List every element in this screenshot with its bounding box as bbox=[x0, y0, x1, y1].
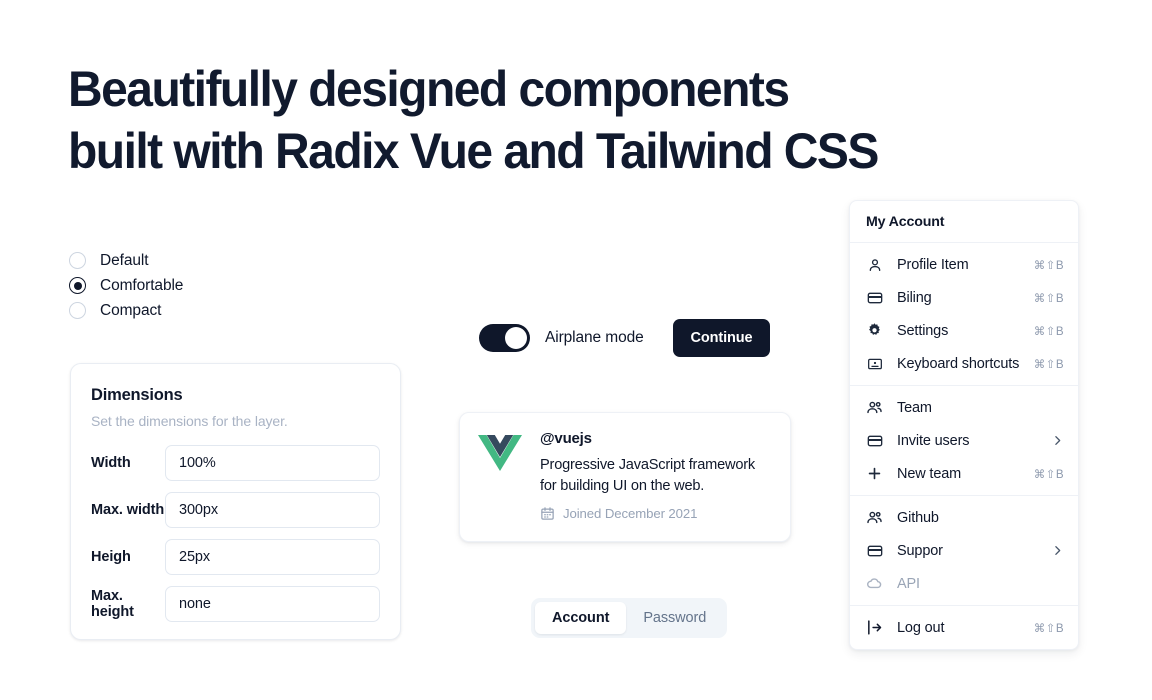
menu-item-label: Profile Item bbox=[897, 257, 1034, 273]
page-root: Beautifully designed components built wi… bbox=[0, 0, 1152, 700]
page-title: Beautifully designed components built wi… bbox=[68, 58, 970, 182]
credit-card-icon bbox=[866, 542, 883, 559]
users-icon bbox=[866, 509, 883, 526]
dimensions-fields: Width Max. width Heigh Max. height bbox=[91, 445, 380, 622]
radio-circle-icon[interactable] bbox=[69, 252, 86, 269]
tab-password[interactable]: Password bbox=[626, 602, 723, 634]
tabs-list: Account Password bbox=[531, 598, 727, 638]
hover-card-meta: Joined December 2021 bbox=[540, 506, 772, 521]
switch-knob bbox=[505, 327, 527, 349]
radio-label: Compact bbox=[100, 302, 161, 320]
dimensions-card: Dimensions Set the dimensions for the la… bbox=[70, 363, 401, 640]
menu-item-label: Log out bbox=[897, 620, 1034, 636]
cloud-icon bbox=[866, 575, 883, 592]
menu-item-label: Team bbox=[897, 400, 1064, 416]
menu-item-billing[interactable]: Biling ⌘⇧B bbox=[850, 281, 1078, 314]
width-input[interactable] bbox=[165, 445, 380, 481]
menu-item-label: Suppor bbox=[897, 543, 1051, 559]
dimensions-description: Set the dimensions for the layer. bbox=[91, 413, 380, 429]
airplane-mode-switch[interactable] bbox=[479, 324, 530, 352]
radio-option-comfortable[interactable]: Comfortable bbox=[69, 273, 183, 298]
hover-card-joined: Joined December 2021 bbox=[563, 506, 697, 521]
chevron-right-icon bbox=[1051, 434, 1064, 447]
max-height-input[interactable] bbox=[165, 586, 380, 622]
menu-item-support[interactable]: Suppor bbox=[850, 534, 1078, 567]
menu-item-log-out[interactable]: Log out ⌘⇧B bbox=[850, 611, 1078, 644]
plus-icon bbox=[866, 465, 883, 482]
radio-dot-icon bbox=[74, 282, 82, 290]
menu-item-shortcut: ⌘⇧B bbox=[1034, 324, 1064, 338]
radio-label: Default bbox=[100, 252, 148, 270]
menu-item-shortcut: ⌘⇧B bbox=[1034, 621, 1064, 635]
hover-card: @vuejs Progressive JavaScript framework … bbox=[459, 412, 791, 542]
field-row-max-height: Max. height bbox=[91, 586, 380, 622]
menu-item-shortcut: ⌘⇧B bbox=[1034, 258, 1064, 272]
calendar-icon bbox=[540, 506, 555, 521]
page-title-line-1: Beautifully designed components bbox=[68, 58, 970, 120]
dimensions-title: Dimensions bbox=[91, 386, 380, 405]
field-label-height: Heigh bbox=[91, 549, 165, 565]
menu-item-shortcut: ⌘⇧B bbox=[1034, 291, 1064, 305]
menu-item-label: Invite users bbox=[897, 433, 1051, 449]
menu-item-keyboard-shortcuts[interactable]: Keyboard shortcuts ⌘⇧B bbox=[850, 347, 1078, 380]
radio-label: Comfortable bbox=[100, 277, 183, 295]
users-icon bbox=[866, 399, 883, 416]
page-title-line-2: built with Radix Vue and Tailwind CSS bbox=[68, 120, 970, 182]
user-icon bbox=[866, 256, 883, 273]
field-row-height: Heigh bbox=[91, 539, 380, 575]
menu-item-invite-users[interactable]: Invite users bbox=[850, 424, 1078, 457]
credit-card-icon bbox=[866, 289, 883, 306]
field-label-max-height: Max. height bbox=[91, 588, 165, 620]
radio-option-compact[interactable]: Compact bbox=[69, 298, 183, 323]
menu-item-label: Keyboard shortcuts bbox=[897, 356, 1034, 372]
menu-item-team[interactable]: Team bbox=[850, 391, 1078, 424]
airplane-mode-label: Airplane mode bbox=[545, 329, 644, 347]
menu-item-github[interactable]: Github bbox=[850, 501, 1078, 534]
radio-circle-checked-icon[interactable] bbox=[69, 277, 86, 294]
menu-item-profile[interactable]: Profile Item ⌘⇧B bbox=[850, 248, 1078, 281]
credit-card-icon bbox=[866, 432, 883, 449]
logout-icon bbox=[866, 619, 883, 636]
continue-button[interactable]: Continue bbox=[673, 319, 770, 357]
vue-logo-icon bbox=[478, 433, 522, 473]
radio-circle-icon[interactable] bbox=[69, 302, 86, 319]
field-row-width: Width bbox=[91, 445, 380, 481]
field-label-width: Width bbox=[91, 455, 165, 471]
menu-group-resources: Github Suppor API bbox=[850, 496, 1078, 605]
menu-item-api: API bbox=[850, 567, 1078, 600]
account-dropdown-menu: My Account Profile Item ⌘⇧B Biling ⌘⇧B bbox=[849, 200, 1079, 650]
menu-item-settings[interactable]: Settings ⌘⇧B bbox=[850, 314, 1078, 347]
field-label-max-width: Max. width bbox=[91, 502, 165, 518]
menu-item-label: Settings bbox=[897, 323, 1034, 339]
height-input[interactable] bbox=[165, 539, 380, 575]
airplane-mode-control: Airplane mode bbox=[479, 324, 644, 352]
hover-card-handle: @vuejs bbox=[540, 430, 772, 447]
chevron-right-icon bbox=[1051, 544, 1064, 557]
field-row-max-width: Max. width bbox=[91, 492, 380, 528]
menu-item-label: Biling bbox=[897, 290, 1034, 306]
hover-card-body: @vuejs Progressive JavaScript framework … bbox=[540, 430, 772, 524]
keyboard-icon bbox=[866, 355, 883, 372]
menu-item-shortcut: ⌘⇧B bbox=[1034, 357, 1064, 371]
menu-header-label: My Account bbox=[850, 201, 1078, 242]
menu-item-new-team[interactable]: New team ⌘⇧B bbox=[850, 457, 1078, 490]
gear-icon bbox=[866, 322, 883, 339]
hover-card-description: Progressive JavaScript framework for bui… bbox=[540, 455, 772, 497]
menu-group-session: Log out ⌘⇧B bbox=[850, 606, 1078, 649]
radio-option-default[interactable]: Default bbox=[69, 248, 183, 273]
menu-group-account: Profile Item ⌘⇧B Biling ⌘⇧B Settings ⌘⇧B bbox=[850, 243, 1078, 385]
max-width-input[interactable] bbox=[165, 492, 380, 528]
menu-group-team: Team Invite users New team ⌘⇧B bbox=[850, 386, 1078, 495]
radio-group: Default Comfortable Compact bbox=[69, 248, 183, 323]
menu-item-shortcut: ⌘⇧B bbox=[1034, 467, 1064, 481]
menu-item-label: Github bbox=[897, 510, 1064, 526]
tab-account[interactable]: Account bbox=[535, 602, 626, 634]
menu-item-label: New team bbox=[897, 466, 1034, 482]
menu-item-label: API bbox=[897, 576, 1064, 592]
